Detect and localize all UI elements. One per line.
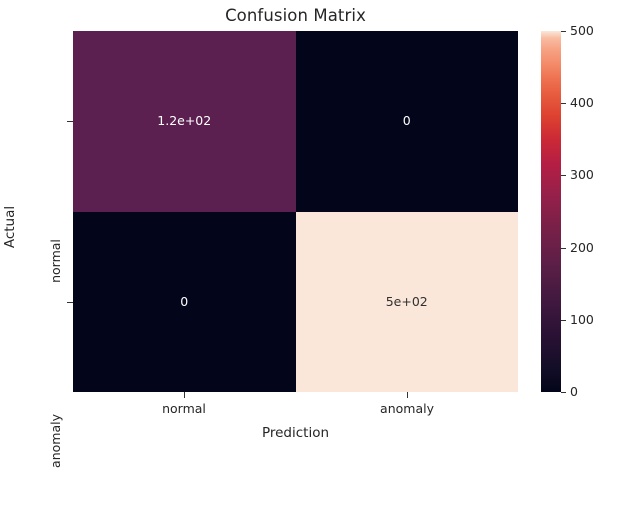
y-tick-label-normal: normal — [46, 191, 64, 331]
heatmap-cell-normal-anomaly: 0 — [296, 31, 519, 212]
x-tick-label-normal: normal — [73, 401, 295, 416]
y-tick-label-anomaly: anomaly — [46, 371, 64, 511]
colorbar-tick-mark — [561, 320, 566, 321]
x-axis-label: Prediction — [73, 425, 518, 441]
confusion-matrix-figure: Confusion Matrix 1.2e+02 0 0 5e+02 Actua… — [0, 0, 625, 454]
colorbar-tick-mark — [561, 31, 566, 32]
colorbar-tick-mark — [561, 175, 566, 176]
colorbar-tick-label: 200 — [570, 241, 594, 254]
y-axis-label: Actual — [0, 0, 20, 454]
colorbar-gradient — [541, 31, 561, 392]
heatmap-cell-anomaly-normal: 0 — [73, 212, 296, 393]
x-tick-label-anomaly: anomaly — [296, 401, 518, 416]
colorbar-tick-mark — [561, 248, 566, 249]
colorbar-tick-label: 400 — [570, 97, 594, 110]
cell-value: 1.2e+02 — [157, 115, 211, 128]
heatmap-cell-normal-normal: 1.2e+02 — [73, 31, 296, 212]
colorbar-tick-label: 300 — [570, 169, 594, 182]
chart-title: Confusion Matrix — [73, 6, 518, 25]
colorbar-tick-label: 0 — [570, 386, 578, 399]
colorbar-tick-label: 100 — [570, 314, 594, 327]
heatmap-cell-anomaly-anomaly: 5e+02 — [296, 212, 519, 393]
colorbar-tick-mark — [561, 103, 566, 104]
y-tick-mark-anomaly — [67, 302, 73, 303]
cell-value: 0 — [180, 296, 188, 309]
cell-value: 0 — [403, 115, 411, 128]
x-tick-mark-normal — [184, 392, 185, 398]
colorbar-tick-label: 500 — [570, 25, 594, 38]
x-tick-mark-anomaly — [407, 392, 408, 398]
colorbar-tick-mark — [561, 392, 566, 393]
y-tick-mark-normal — [67, 121, 73, 122]
cell-value: 5e+02 — [386, 296, 428, 309]
heatmap-plot-area: 1.2e+02 0 0 5e+02 — [73, 31, 518, 392]
